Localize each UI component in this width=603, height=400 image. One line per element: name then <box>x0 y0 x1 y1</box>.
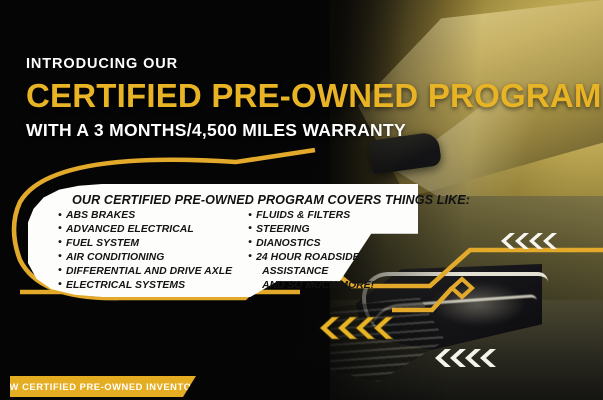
list-item: ELECTRICAL SYSTEMS <box>58 279 232 293</box>
chevron-left-icon <box>423 354 483 370</box>
list-item: 24 HOUR ROADSIDE <box>248 251 388 265</box>
view-inventory-button[interactable]: VIEW CERTIFIED PRE-OWNED INVENTORY <box>10 376 196 397</box>
warranty-subtitle: WITH A 3 MONTHS/4,500 MILES WARRANTY <box>26 121 546 140</box>
view-inventory-button-label: VIEW CERTIFIED PRE-OWNED INVENTORY <box>0 381 213 392</box>
chevron-left-icon <box>312 316 396 340</box>
headline-block: INTRODUCING OUR CERTIFIED PRE-OWNED PROG… <box>26 56 546 140</box>
chevron-left-icon <box>494 232 562 250</box>
list-item: AIR CONDITIONING <box>58 251 232 265</box>
list-item: FUEL SYSTEM <box>58 237 232 251</box>
list-item: FLUIDS & FILTERS <box>248 209 388 223</box>
list-item: STEERING <box>248 223 388 237</box>
diamond-node <box>452 279 472 297</box>
intro-text: INTRODUCING OUR <box>26 56 546 73</box>
closing-text: AND SO MUCH MORE! <box>248 279 388 293</box>
page-title: CERTIFIED PRE-OWNED PROGRAM <box>26 79 546 113</box>
coverage-column-left: ABS BRAKES ADVANCED ELECTRICAL FUEL SYST… <box>58 209 232 292</box>
coverage-columns: ABS BRAKES ADVANCED ELECTRICAL FUEL SYST… <box>58 209 388 292</box>
list-item: ADVANCED ELECTRICAL <box>58 223 232 237</box>
chevron-group-white-top <box>494 232 562 250</box>
list-item: DIANOSTICS <box>248 237 388 251</box>
advertisement-banner: INTRODUCING OUR CERTIFIED PRE-OWNED PROG… <box>0 0 603 400</box>
card-title: OUR CERTIFIED PRE-OWNED PROGRAM COVERS T… <box>72 193 470 207</box>
list-item: DIFFERENTIAL AND DRIVE AXLE <box>58 265 232 279</box>
list-item: ABS BRAKES <box>58 209 232 223</box>
list-item-continuation: ASSISTANCE <box>248 265 388 279</box>
chevron-group-gold <box>312 316 396 340</box>
coverage-column-right: FLUIDS & FILTERS STEERING DIANOSTICS 24 … <box>248 209 388 292</box>
